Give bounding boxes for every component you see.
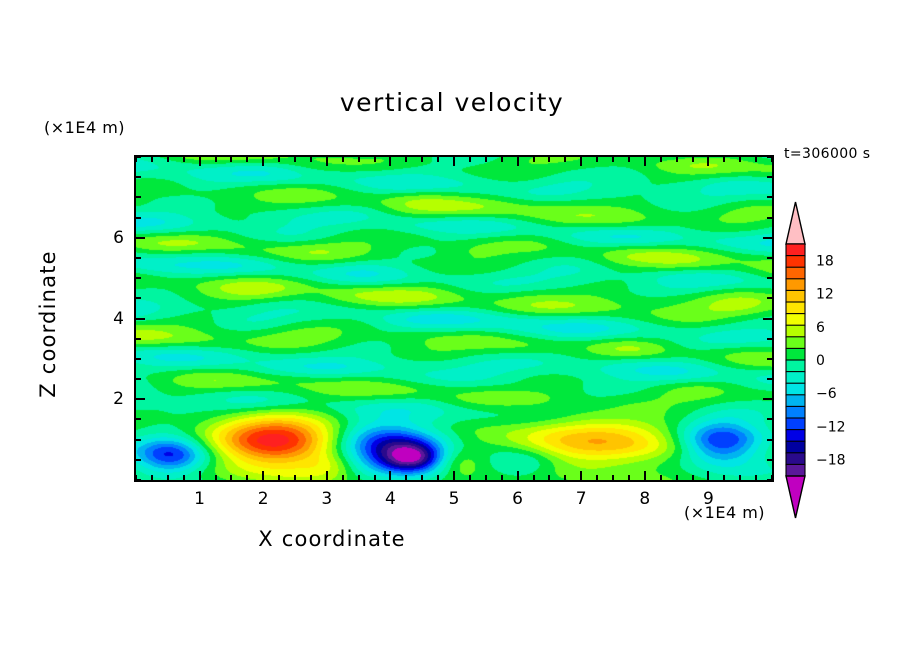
- x-tick-top: [485, 157, 487, 162]
- y-tick: [136, 318, 145, 320]
- x-tick-top: [548, 157, 550, 162]
- x-tick: [755, 475, 757, 480]
- y-tick-right: [767, 156, 772, 158]
- y-tick: [136, 358, 141, 360]
- x-tick-top: [310, 157, 312, 162]
- y-tick: [136, 277, 141, 279]
- x-tick-top: [183, 157, 185, 162]
- colorbar-tick-label: −6: [816, 386, 837, 402]
- x-tick-top: [612, 157, 614, 162]
- x-tick-label: 2: [248, 489, 278, 509]
- y-tick: [136, 338, 141, 340]
- x-tick-label: 3: [312, 489, 342, 509]
- x-tick-label: 8: [630, 489, 660, 509]
- x-tick-top: [230, 157, 232, 162]
- x-tick: [612, 475, 614, 480]
- x-tick: [485, 475, 487, 480]
- colorbar-band: [786, 406, 805, 418]
- x-tick: [692, 475, 694, 480]
- x-tick: [167, 475, 169, 480]
- y-axis-title: Z coordinate: [36, 214, 60, 434]
- x-tick-top: [437, 157, 439, 162]
- colorbar-band: [786, 441, 805, 453]
- x-tick: [421, 475, 423, 480]
- x-tick-top: [739, 157, 741, 162]
- x-tick: [199, 471, 201, 480]
- x-tick: [628, 475, 630, 480]
- x-tick-top: [421, 157, 423, 162]
- x-tick-top: [278, 157, 280, 162]
- x-tick-top: [580, 157, 582, 166]
- colorbar: 181260−6−12−18: [783, 200, 903, 520]
- y-tick: [136, 257, 141, 259]
- x-tick: [342, 475, 344, 480]
- y-tick: [136, 217, 141, 219]
- y-tick-right: [767, 257, 772, 259]
- x-tick-top: [453, 157, 455, 166]
- x-tick: [246, 475, 248, 480]
- x-tick: [230, 475, 232, 480]
- x-tick: [707, 471, 709, 480]
- colorbar-over-arrow: [786, 202, 805, 244]
- colorbar-band: [786, 430, 805, 442]
- x-tick-top: [342, 157, 344, 162]
- colorbar-tick-label: 18: [816, 254, 834, 270]
- x-tick: [389, 471, 391, 480]
- colorbar-band: [786, 244, 805, 256]
- x-tick: [215, 475, 217, 480]
- colorbar-band: [786, 325, 805, 337]
- x-tick-label: 9: [693, 489, 723, 509]
- x-tick: [262, 471, 264, 480]
- x-tick-label: 4: [375, 489, 405, 509]
- colorbar-band: [786, 290, 805, 302]
- x-tick-top: [405, 157, 407, 162]
- y-tick-right: [767, 358, 772, 360]
- x-tick-top: [517, 157, 519, 166]
- x-tick: [517, 471, 519, 480]
- x-tick: [374, 475, 376, 480]
- x-tick-top: [692, 157, 694, 162]
- colorbar-band: [786, 395, 805, 407]
- y-tick-right: [767, 196, 772, 198]
- x-tick-top: [262, 157, 264, 166]
- timestamp-label: t=306000 s: [784, 146, 870, 162]
- contour-plot-area: [134, 155, 774, 482]
- x-tick-top: [326, 157, 328, 166]
- colorbar-band: [786, 348, 805, 360]
- x-tick-label: 6: [503, 489, 533, 509]
- x-tick-top: [358, 157, 360, 162]
- y-tick-right: [763, 237, 772, 239]
- x-tick-top: [644, 157, 646, 166]
- x-tick-top: [215, 157, 217, 162]
- y-tick-right: [767, 338, 772, 340]
- x-tick-top: [389, 157, 391, 166]
- colorbar-band: [786, 464, 805, 476]
- y-tick: [136, 297, 141, 299]
- y-tick-label: 2: [94, 389, 124, 409]
- x-tick: [437, 475, 439, 480]
- colorbar-band: [786, 418, 805, 430]
- x-tick: [183, 475, 185, 480]
- x-tick-top: [628, 157, 630, 162]
- x-tick-top: [660, 157, 662, 162]
- y-tick-label: 6: [94, 228, 124, 248]
- x-tick: [548, 475, 550, 480]
- colorbar-svg: 181260−6−12−18: [783, 200, 903, 520]
- x-tick: [326, 471, 328, 480]
- x-tick-top: [246, 157, 248, 162]
- x-tick-label: 7: [566, 489, 596, 509]
- x-tick: [580, 471, 582, 480]
- y-tick-right: [767, 439, 772, 441]
- colorbar-band: [786, 360, 805, 372]
- x-tick: [358, 475, 360, 480]
- x-tick: [151, 475, 153, 480]
- colorbar-band: [786, 372, 805, 384]
- y-tick-right: [767, 479, 772, 481]
- y-tick: [136, 378, 141, 380]
- x-tick-top: [755, 157, 757, 162]
- x-tick-top: [151, 157, 153, 162]
- y-tick-right: [767, 217, 772, 219]
- x-tick-top: [199, 157, 201, 166]
- x-tick: [278, 475, 280, 480]
- y-tick-right: [767, 297, 772, 299]
- y-tick-right: [767, 176, 772, 178]
- x-tick-top: [501, 157, 503, 162]
- y-tick: [136, 459, 141, 461]
- y-tick: [136, 479, 141, 481]
- colorbar-tick-label: 0: [816, 353, 825, 369]
- colorbar-band: [786, 302, 805, 314]
- x-tick: [660, 475, 662, 480]
- y-tick-right: [767, 459, 772, 461]
- colorbar-tick-label: 12: [816, 287, 834, 303]
- colorbar-tick-label: 6: [816, 320, 825, 336]
- vertical-velocity-field: [136, 157, 772, 480]
- colorbar-band: [786, 337, 805, 349]
- x-tick-top: [564, 157, 566, 162]
- x-tick: [501, 475, 503, 480]
- x-tick: [723, 475, 725, 480]
- y-tick: [136, 176, 141, 178]
- y-tick: [136, 156, 141, 158]
- x-tick: [676, 475, 678, 480]
- y-tick-right: [763, 398, 772, 400]
- x-tick-top: [294, 157, 296, 162]
- x-tick-top: [723, 157, 725, 162]
- y-tick-label: 4: [94, 309, 124, 329]
- x-tick-label: 5: [439, 489, 469, 509]
- y-tick: [136, 196, 141, 198]
- x-tick: [453, 471, 455, 480]
- colorbar-tick-label: −12: [816, 419, 846, 435]
- x-axis-title: X coordinate: [0, 527, 904, 551]
- x-tick-top: [469, 157, 471, 162]
- page-title: vertical velocity: [0, 88, 904, 117]
- colorbar-under-arrow: [786, 476, 805, 518]
- x-tick-label: 1: [185, 489, 215, 509]
- colorbar-band: [786, 267, 805, 279]
- y-tick: [136, 398, 145, 400]
- y-tick-right: [767, 418, 772, 420]
- figure-canvas: vertical velocity (×1E4 m) (×1E4 m) t=30…: [0, 0, 904, 654]
- x-tick: [469, 475, 471, 480]
- x-tick: [644, 471, 646, 480]
- x-tick-top: [676, 157, 678, 162]
- x-tick: [564, 475, 566, 480]
- x-tick-top: [596, 157, 598, 162]
- colorbar-tick-label: −18: [816, 452, 846, 468]
- y-tick-right: [767, 378, 772, 380]
- x-tick: [310, 475, 312, 480]
- x-tick-top: [167, 157, 169, 162]
- x-tick: [405, 475, 407, 480]
- y-tick-right: [767, 277, 772, 279]
- colorbar-band: [786, 314, 805, 326]
- x-tick: [294, 475, 296, 480]
- y-tick: [136, 237, 145, 239]
- x-tick-top: [374, 157, 376, 162]
- x-tick: [533, 475, 535, 480]
- colorbar-band: [786, 256, 805, 268]
- y-tick: [136, 439, 141, 441]
- x-tick: [739, 475, 741, 480]
- colorbar-band: [786, 383, 805, 395]
- colorbar-band: [786, 279, 805, 291]
- y-tick-right: [763, 318, 772, 320]
- x-tick-top: [707, 157, 709, 166]
- y-axis-unit-label: (×1E4 m): [44, 118, 125, 137]
- x-tick: [596, 475, 598, 480]
- colorbar-band: [786, 453, 805, 465]
- x-tick-top: [533, 157, 535, 162]
- y-tick: [136, 418, 141, 420]
